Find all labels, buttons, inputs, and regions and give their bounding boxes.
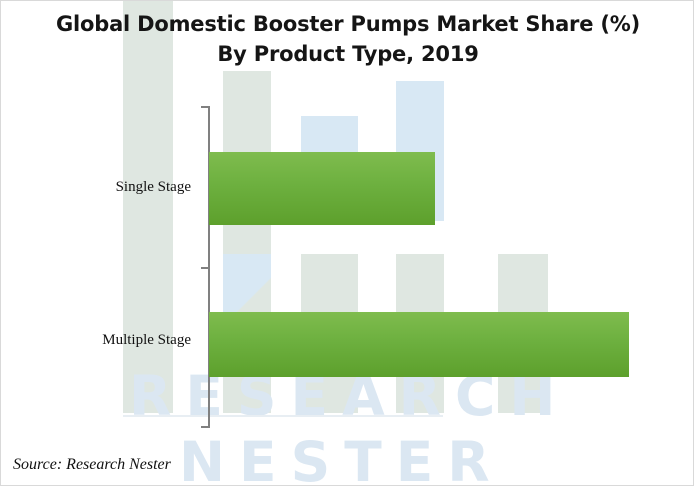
category-label-multiple-stage: Multiple Stage [31, 332, 191, 349]
source-note: Source: Research Nester [13, 456, 171, 474]
plot-area: Single Stage Multiple Stage [1, 1, 694, 486]
chart-title: Global Domestic Booster Pumps Market Sha… [1, 9, 694, 39]
bar-multiple-stage[interactable] [209, 312, 629, 377]
chart-figure: RESEARCH NESTER Global Domestic Booster … [0, 0, 694, 486]
axis-tick [201, 426, 208, 428]
axis-tick [201, 267, 208, 269]
category-label-single-stage: Single Stage [31, 179, 191, 196]
bar-single-stage[interactable] [209, 152, 435, 225]
chart-subtitle: By Product Type, 2019 [1, 39, 694, 69]
chart-title-block: Global Domestic Booster Pumps Market Sha… [1, 9, 694, 69]
axis-tick [201, 106, 208, 108]
